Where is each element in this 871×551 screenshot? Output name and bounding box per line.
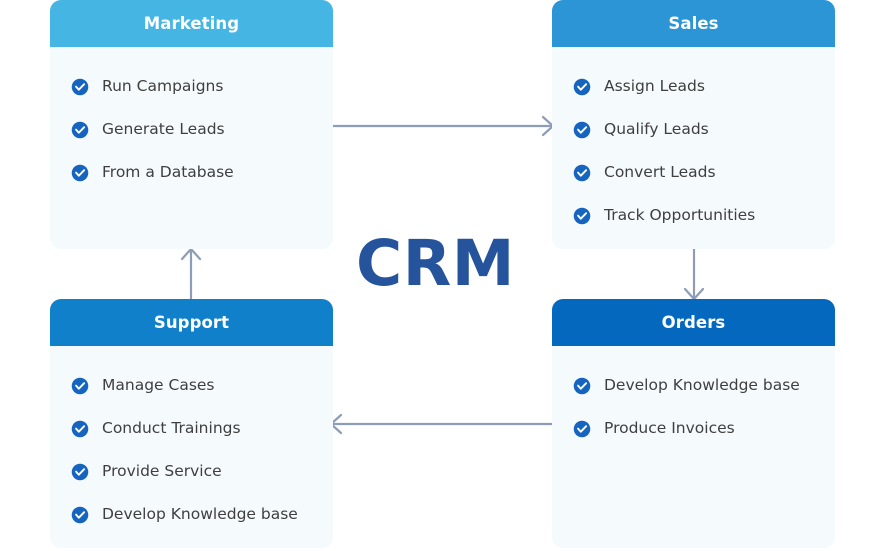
card-support-body: Manage Cases Conduct Trainings Provide S… [50, 346, 333, 548]
list-item-label: Track Opportunities [604, 208, 755, 224]
list-item[interactable]: Convert Leads [552, 151, 835, 194]
card-marketing-title: Marketing [144, 14, 239, 33]
card-orders-header: Orders [552, 299, 835, 346]
list-item-label: Develop Knowledge base [604, 378, 800, 394]
list-item[interactable]: Provide Service [50, 450, 333, 493]
list-item[interactable]: Develop Knowledge base [50, 493, 333, 536]
check-circle-icon [71, 78, 89, 96]
card-sales-body: Assign Leads Qualify Leads Convert Leads [552, 47, 835, 249]
card-sales-title: Sales [668, 14, 718, 33]
list-item[interactable]: Qualify Leads [552, 108, 835, 151]
list-item-label: Assign Leads [604, 79, 705, 95]
list-item-label: Manage Cases [102, 378, 215, 394]
check-circle-icon [573, 78, 591, 96]
card-sales-header: Sales [552, 0, 835, 47]
list-item[interactable]: Run Campaigns [50, 65, 333, 108]
check-circle-icon [71, 506, 89, 524]
card-orders-body: Develop Knowledge base Produce Invoices [552, 346, 835, 468]
arrow-orders-to-support [331, 415, 552, 433]
arrow-support-to-marketing [182, 249, 200, 299]
list-item-label: From a Database [102, 165, 234, 181]
check-circle-icon [71, 164, 89, 182]
support-item-list: Manage Cases Conduct Trainings Provide S… [50, 364, 333, 536]
card-orders[interactable]: Orders Develop Knowledge base Produce In [552, 299, 835, 548]
list-item-label: Develop Knowledge base [102, 507, 298, 523]
card-orders-title: Orders [662, 313, 726, 332]
check-circle-icon [71, 377, 89, 395]
check-circle-icon [71, 463, 89, 481]
list-item[interactable]: Assign Leads [552, 65, 835, 108]
check-circle-icon [573, 121, 591, 139]
card-support[interactable]: Support Manage Cases Conduct Trainings [50, 299, 333, 548]
check-circle-icon [573, 377, 591, 395]
list-item[interactable]: From a Database [50, 151, 333, 194]
list-item-label: Run Campaigns [102, 79, 223, 95]
card-support-title: Support [154, 313, 229, 332]
card-support-header: Support [50, 299, 333, 346]
check-circle-icon [71, 121, 89, 139]
list-item-label: Generate Leads [102, 122, 225, 138]
crm-diagram: Marketing Run Campaigns Generate Leads [0, 0, 871, 551]
list-item[interactable]: Manage Cases [50, 364, 333, 407]
list-item-label: Convert Leads [604, 165, 716, 181]
list-item-label: Qualify Leads [604, 122, 709, 138]
arrow-sales-to-orders [685, 249, 703, 299]
check-circle-icon [573, 164, 591, 182]
list-item-label: Produce Invoices [604, 421, 735, 437]
card-marketing-header: Marketing [50, 0, 333, 47]
list-item[interactable]: Develop Knowledge base [552, 364, 835, 407]
sales-item-list: Assign Leads Qualify Leads Convert Leads [552, 65, 835, 237]
list-item-label: Provide Service [102, 464, 222, 480]
list-item-label: Conduct Trainings [102, 421, 241, 437]
list-item[interactable]: Track Opportunities [552, 194, 835, 237]
card-sales[interactable]: Sales Assign Leads Qualify Leads [552, 0, 835, 249]
list-item[interactable]: Conduct Trainings [50, 407, 333, 450]
marketing-item-list: Run Campaigns Generate Leads From a Data… [50, 65, 333, 194]
arrow-marketing-to-sales [331, 117, 553, 135]
orders-item-list: Develop Knowledge base Produce Invoices [552, 364, 835, 450]
card-marketing-body: Run Campaigns Generate Leads From a Data… [50, 47, 333, 212]
list-item[interactable]: Generate Leads [50, 108, 333, 151]
card-marketing[interactable]: Marketing Run Campaigns Generate Leads [50, 0, 333, 249]
check-circle-icon [573, 420, 591, 438]
list-item[interactable]: Produce Invoices [552, 407, 835, 450]
check-circle-icon [573, 207, 591, 225]
check-circle-icon [71, 420, 89, 438]
